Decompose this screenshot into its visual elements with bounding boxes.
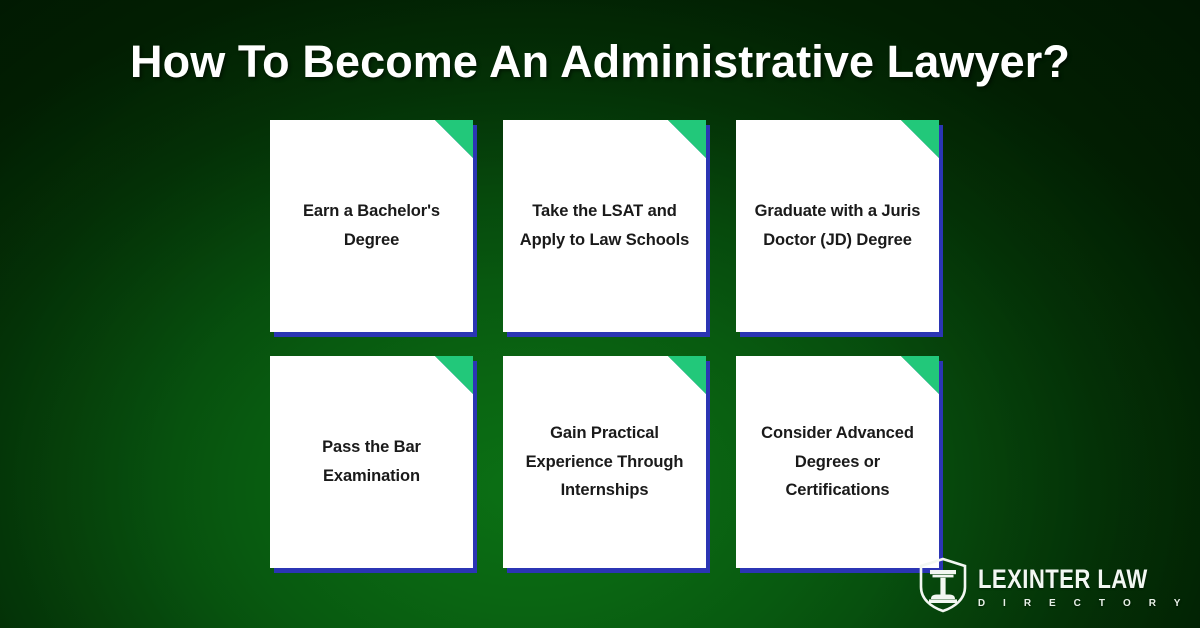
folded-corner-icon bbox=[668, 120, 706, 158]
step-card[interactable]: Pass the Bar Examination bbox=[270, 356, 473, 568]
step-card[interactable]: Take the LSAT and Apply to Law Schools bbox=[503, 120, 706, 332]
logo-wordmark: LEXINTER LAW D I R E C T O R Y bbox=[978, 566, 1188, 609]
card-label: Earn a Bachelor's Degree bbox=[284, 197, 459, 254]
infographic-canvas: How To Become An Administrative Lawyer? … bbox=[0, 0, 1200, 628]
steps-grid: Earn a Bachelor's Degree Take the LSAT a… bbox=[270, 120, 942, 568]
folded-corner-icon bbox=[668, 356, 706, 394]
logo-subtitle: D I R E C T O R Y bbox=[978, 599, 1188, 609]
step-card[interactable]: Graduate with a Juris Doctor (JD) Degree bbox=[736, 120, 939, 332]
folded-corner-icon bbox=[901, 120, 939, 158]
shield-pillar-icon bbox=[918, 557, 968, 618]
card-label: Take the LSAT and Apply to Law Schools bbox=[517, 197, 692, 254]
folded-corner-icon bbox=[435, 120, 473, 158]
logo-name: LEXINTER LAW bbox=[978, 566, 1150, 593]
brand-logo[interactable]: LEXINTER LAW D I R E C T O R Y bbox=[918, 554, 1188, 620]
card-label: Gain Practical Experience Through Intern… bbox=[517, 419, 692, 505]
step-card[interactable]: Gain Practical Experience Through Intern… bbox=[503, 356, 706, 568]
step-card[interactable]: Earn a Bachelor's Degree bbox=[270, 120, 473, 332]
card-label: Graduate with a Juris Doctor (JD) Degree bbox=[750, 197, 925, 254]
folded-corner-icon bbox=[435, 356, 473, 394]
card-label: Consider Advanced Degrees or Certificati… bbox=[750, 419, 925, 505]
page-title: How To Become An Administrative Lawyer? bbox=[0, 33, 1200, 91]
card-label: Pass the Bar Examination bbox=[284, 433, 459, 490]
step-card[interactable]: Consider Advanced Degrees or Certificati… bbox=[736, 356, 939, 568]
folded-corner-icon bbox=[901, 356, 939, 394]
